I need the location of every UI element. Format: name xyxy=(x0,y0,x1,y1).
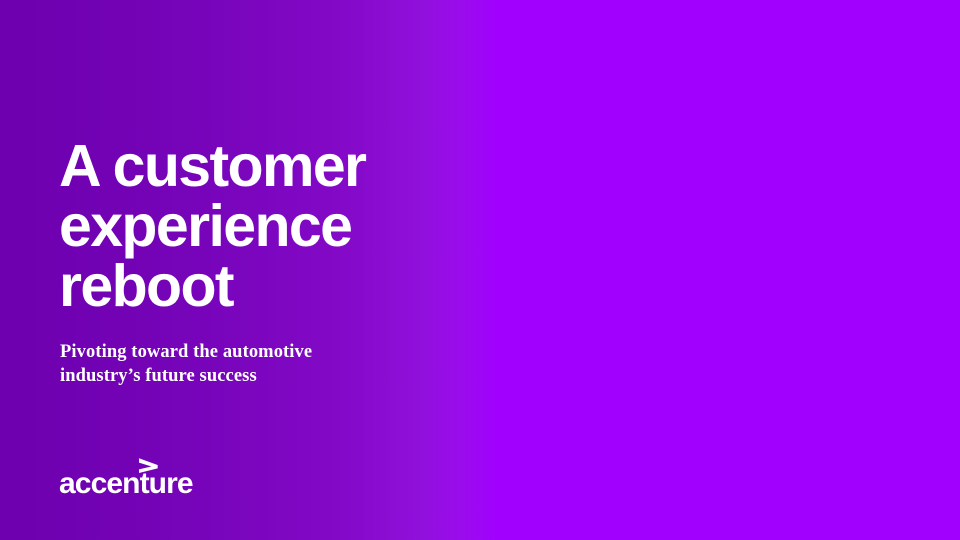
accenture-logo: accenture xyxy=(59,455,279,500)
title-slide: A customer experience reboot Pivoting to… xyxy=(0,0,960,540)
accenture-wordmark: accenture xyxy=(59,469,193,499)
page-title: A customer experience reboot xyxy=(59,136,479,316)
slide-content: A customer experience reboot Pivoting to… xyxy=(59,0,479,540)
slide-subtitle: Pivoting toward the automotive industry’… xyxy=(60,340,440,388)
